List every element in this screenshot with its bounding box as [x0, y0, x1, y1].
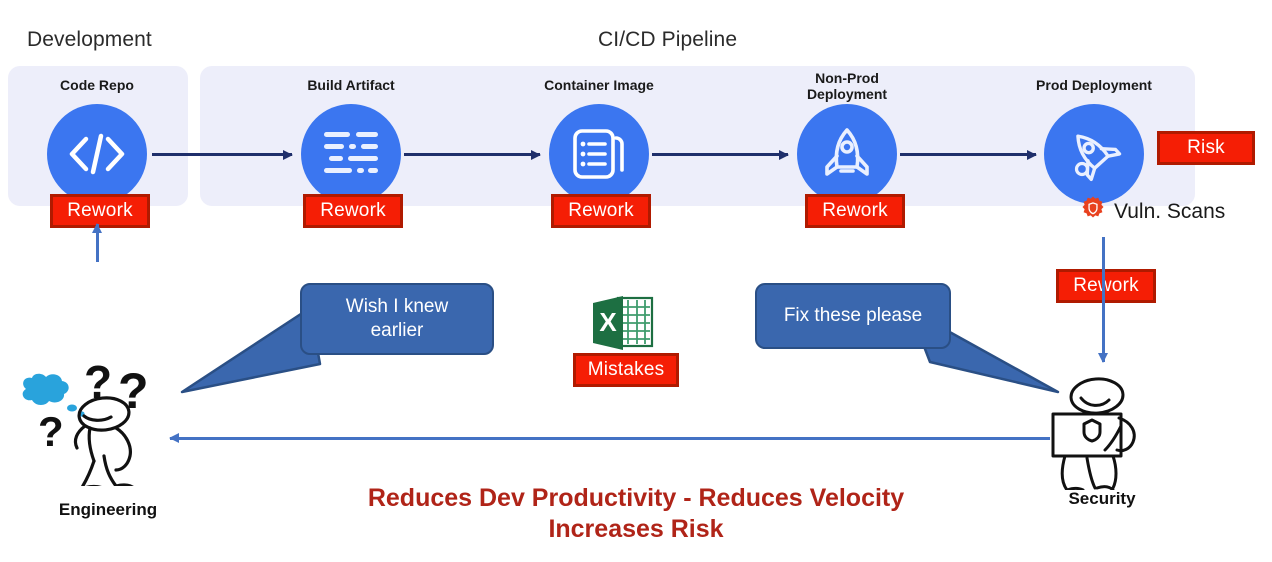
code-lines-icon — [301, 104, 401, 204]
arrow-line — [1102, 237, 1105, 362]
speech-bubble-security: Fix these please — [755, 283, 951, 349]
node-label-line2: Deployment — [807, 86, 887, 102]
code-brackets-icon — [47, 104, 147, 204]
badge-risk[interactable]: Risk — [1157, 131, 1255, 165]
speech-bubble-engineering: Wish I knew earlier — [300, 283, 494, 355]
arrow-line — [652, 153, 788, 156]
bubble-line2: earlier — [371, 320, 424, 341]
gear-shield-icon — [1080, 196, 1106, 227]
arrow-prod-down-to-security — [1098, 237, 1108, 362]
excel-spreadsheet-icon: X — [590, 294, 656, 352]
arrow-head — [283, 150, 293, 160]
arrow-line — [900, 153, 1036, 156]
node-label-prod-deployment: Prod Deployment — [1019, 78, 1169, 93]
bubble-line1: Wish I knew — [346, 296, 448, 317]
arrow-head — [779, 150, 789, 160]
badge-rework-build-artifact[interactable]: Rework — [303, 194, 403, 228]
arrow-build-to-image — [404, 150, 540, 160]
arrow-image-to-nonprod — [652, 150, 788, 160]
arrow-security-to-engineering — [170, 433, 1050, 443]
badge-rework-nonprod-deployment[interactable]: Rework — [805, 194, 905, 228]
confused-person-icon: ? ? ? — [12, 356, 202, 486]
node-label-line1: Non-Prod — [815, 70, 879, 86]
development-title: Development — [27, 28, 152, 52]
cicd-pipeline-title: CI/CD Pipeline — [598, 28, 737, 52]
vuln-scans-item: Vuln. Scans — [1080, 196, 1225, 227]
footer-message: Reduces Dev Productivity - Reduces Veloc… — [0, 483, 1272, 545]
badge-mistakes[interactable]: Mistakes — [573, 353, 679, 387]
arrow-code-to-build — [152, 150, 292, 160]
diagram-canvas: Development CI/CD Pipeline Code Repo — [0, 0, 1272, 562]
node-label-build-artifact: Build Artifact — [276, 78, 426, 93]
node-label-container-image: Container Image — [524, 78, 674, 93]
arrow-nonprod-to-prod — [900, 150, 1036, 160]
arrow-line — [152, 153, 292, 156]
arrow-rework-up-to-code-repo — [92, 224, 102, 262]
arrow-head — [1027, 150, 1037, 160]
svg-text:?: ? — [38, 408, 64, 455]
arrow-head — [531, 150, 541, 160]
document-list-icon — [549, 104, 649, 204]
arrow-head — [1098, 353, 1108, 363]
excel-letter: X — [599, 307, 617, 337]
bubble-line1: Fix these please — [784, 304, 922, 328]
node-label-nonprod-deployment: Non-Prod Deployment — [772, 70, 922, 102]
vuln-scans-label: Vuln. Scans — [1114, 200, 1225, 224]
arrow-line — [404, 153, 540, 156]
badge-rework-container-image[interactable]: Rework — [551, 194, 651, 228]
rocket-icon — [797, 104, 897, 204]
footer-line1: Reduces Dev Productivity - Reduces Veloc… — [368, 484, 904, 512]
rocket-tilted-icon — [1044, 104, 1144, 204]
footer-line2: Increases Risk — [0, 514, 1272, 545]
node-label-code-repo: Code Repo — [22, 78, 172, 93]
arrow-head — [92, 223, 102, 233]
arrow-line — [170, 437, 1050, 440]
svg-text:?: ? — [118, 363, 149, 419]
